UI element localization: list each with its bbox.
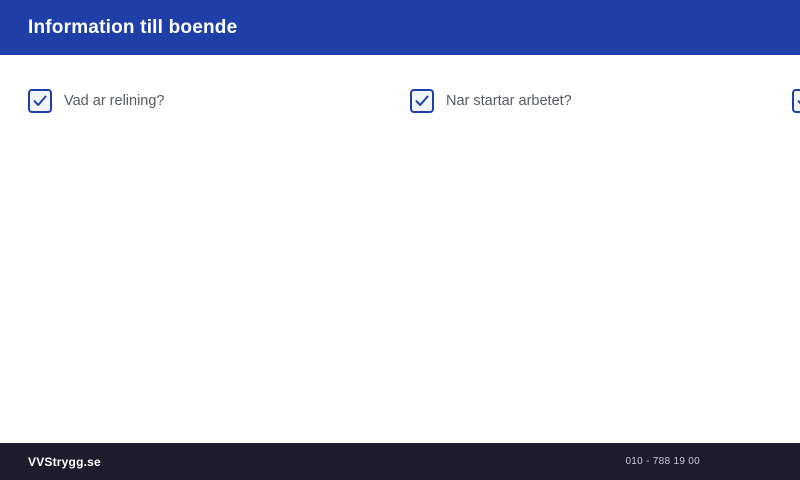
list-item[interactable]: Vad ar relining? <box>28 77 410 125</box>
slide-content: Vad ar relining? Nar startar arbetet? Hu… <box>0 55 800 443</box>
footer-phone: 010 - 788 19 00 <box>625 456 700 467</box>
list-item-label: Vad ar relining? <box>64 93 165 109</box>
checkmark-icon[interactable] <box>28 89 52 113</box>
list-item[interactable]: Hur lange pagar det? <box>792 77 800 125</box>
slide: Information till boende Vad ar relining?… <box>0 0 800 480</box>
slide-header: Information till boende <box>0 0 800 55</box>
page-title: Information till boende <box>28 17 237 39</box>
footer-logo: VVStrygg.se <box>28 455 101 469</box>
list-item[interactable]: Nar startar arbetet? <box>410 77 792 125</box>
checklist: Vad ar relining? Nar startar arbetet? Hu… <box>28 77 772 125</box>
checkmark-icon[interactable] <box>410 89 434 113</box>
checkmark-icon[interactable] <box>792 89 800 113</box>
list-item-label: Nar startar arbetet? <box>446 93 572 109</box>
slide-footer: VVStrygg.se 010 - 788 19 00 <box>0 443 800 480</box>
